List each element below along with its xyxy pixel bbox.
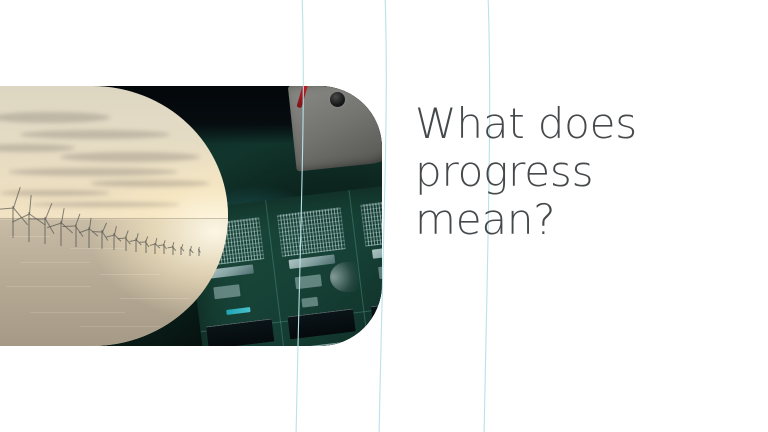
turbine-blade bbox=[181, 248, 184, 252]
turbine-blade bbox=[139, 242, 145, 243]
turbine-blade bbox=[47, 223, 62, 229]
sea-sparkle bbox=[100, 274, 160, 275]
title-line-3: mean? bbox=[415, 196, 745, 244]
cloud bbox=[0, 112, 110, 123]
cloud bbox=[60, 152, 200, 162]
sea-sparkle bbox=[70, 248, 125, 249]
wind-turbine bbox=[196, 246, 201, 256]
bracket-screw-hole-icon bbox=[330, 92, 345, 107]
pcb-cell bbox=[378, 342, 382, 346]
turbine-mast bbox=[29, 212, 30, 242]
pcb-fan-blade bbox=[330, 262, 364, 292]
pcb-pad bbox=[301, 297, 318, 308]
title-line-1: What does bbox=[415, 100, 745, 148]
pcb-pad bbox=[295, 274, 322, 289]
sea-sparkle bbox=[20, 262, 90, 263]
pcb-teal-chip bbox=[226, 307, 250, 315]
turbine-mast bbox=[61, 221, 62, 246]
wind-turbine bbox=[169, 242, 176, 255]
slide-title: What does progress mean? bbox=[415, 100, 745, 244]
turbine-blade bbox=[62, 226, 75, 227]
pcb-chip bbox=[372, 244, 382, 259]
pcb-chip bbox=[299, 342, 346, 346]
sea-sparkle bbox=[80, 326, 160, 327]
wind-turbine bbox=[160, 239, 167, 254]
wind-farm-photo bbox=[0, 86, 228, 346]
pcb-pad bbox=[378, 264, 382, 279]
pcb-chip bbox=[289, 254, 336, 269]
sea-sparkle bbox=[30, 312, 125, 313]
turbine-blade bbox=[75, 214, 80, 227]
turbine-blade bbox=[29, 219, 46, 220]
sea-sparkle bbox=[10, 236, 50, 237]
title-line-2: progress bbox=[415, 148, 745, 196]
turbine-blade bbox=[190, 250, 193, 254]
wind-farm-scene bbox=[0, 86, 228, 346]
sea-sparkle bbox=[120, 298, 190, 299]
cloud bbox=[20, 130, 170, 139]
pcb-slot bbox=[371, 298, 382, 329]
turbine-blade bbox=[61, 208, 65, 223]
cloud bbox=[90, 180, 210, 187]
wind-turbine bbox=[178, 243, 184, 255]
turbine-blade bbox=[12, 214, 30, 223]
turbine-blade bbox=[0, 208, 14, 211]
pcb-slot bbox=[287, 309, 355, 340]
presentation-slide: What does progress mean? bbox=[0, 0, 768, 432]
wind-turbine bbox=[108, 224, 120, 250]
wind-turbine bbox=[95, 220, 109, 249]
wind-turbine bbox=[187, 245, 193, 256]
wind-turbine bbox=[141, 234, 150, 253]
sea-sparkle bbox=[6, 286, 91, 287]
image-collage bbox=[0, 86, 382, 346]
cloud bbox=[0, 144, 75, 152]
pcb-cell bbox=[277, 207, 346, 256]
pcb-cell bbox=[360, 197, 382, 246]
cloud bbox=[8, 168, 178, 176]
